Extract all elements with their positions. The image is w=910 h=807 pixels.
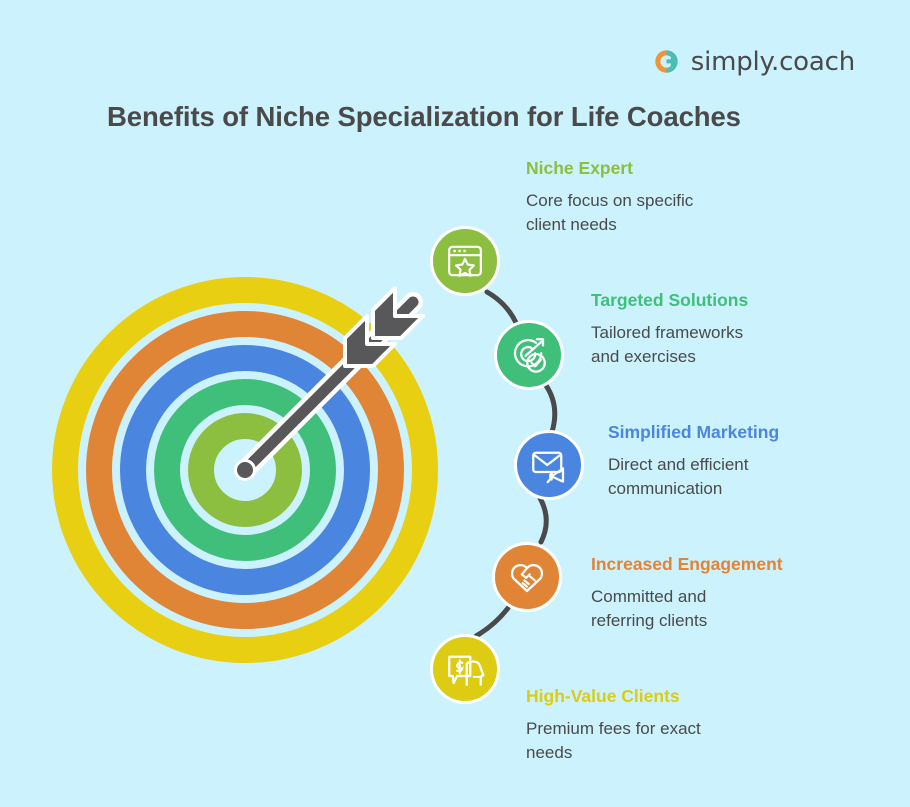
simply-coach-circular-arrow-logo-icon xyxy=(652,47,681,76)
page-title: Benefits of Niche Specialization for Lif… xyxy=(107,101,741,133)
item-text-targeted-solutions: Targeted Solutions Tailored frameworks a… xyxy=(591,292,748,370)
item-description: Direct and efficient communication xyxy=(608,453,779,502)
infographic-canvas: simply.coach Benefits of Niche Specializ… xyxy=(0,0,910,807)
badge-simplified-marketing[interactable] xyxy=(514,430,584,500)
item-description: Tailored frameworks and exercises xyxy=(591,321,748,370)
item-description: Core focus on specific client needs xyxy=(526,189,693,238)
bullseye-target-graphic xyxy=(45,270,465,690)
item-title: High-Value Clients xyxy=(526,688,701,706)
item-title: Niche Expert xyxy=(526,160,693,178)
heart-handshake-icon xyxy=(506,556,548,598)
badge-high-value-clients[interactable] xyxy=(430,634,500,704)
browser-window-star-icon xyxy=(445,241,485,281)
item-description: Premium fees for exact needs xyxy=(526,717,701,766)
brand-logo[interactable]: simply.coach xyxy=(652,47,855,76)
envelope-megaphone-icon xyxy=(528,444,570,486)
item-text-niche-expert: Niche Expert Core focus on specific clie… xyxy=(526,160,693,238)
speech-bubble-dollar-head-icon xyxy=(444,648,486,690)
badge-targeted-solutions[interactable] xyxy=(494,320,564,390)
badge-niche-expert[interactable] xyxy=(430,226,500,296)
item-text-increased-engagement: Increased Engagement Committed and refer… xyxy=(591,556,783,634)
item-description: Committed and referring clients xyxy=(591,585,783,634)
target-arrow-check-icon xyxy=(508,334,550,376)
item-text-high-value-clients: High-Value Clients Premium fees for exac… xyxy=(526,688,701,766)
item-title: Targeted Solutions xyxy=(591,292,748,310)
brand-name: simply.coach xyxy=(691,49,855,75)
target-rings-svg xyxy=(45,270,465,690)
item-title: Simplified Marketing xyxy=(608,424,779,442)
item-title: Increased Engagement xyxy=(591,556,783,574)
badge-increased-engagement[interactable] xyxy=(492,542,562,612)
item-text-simplified-marketing: Simplified Marketing Direct and efficien… xyxy=(608,424,779,502)
